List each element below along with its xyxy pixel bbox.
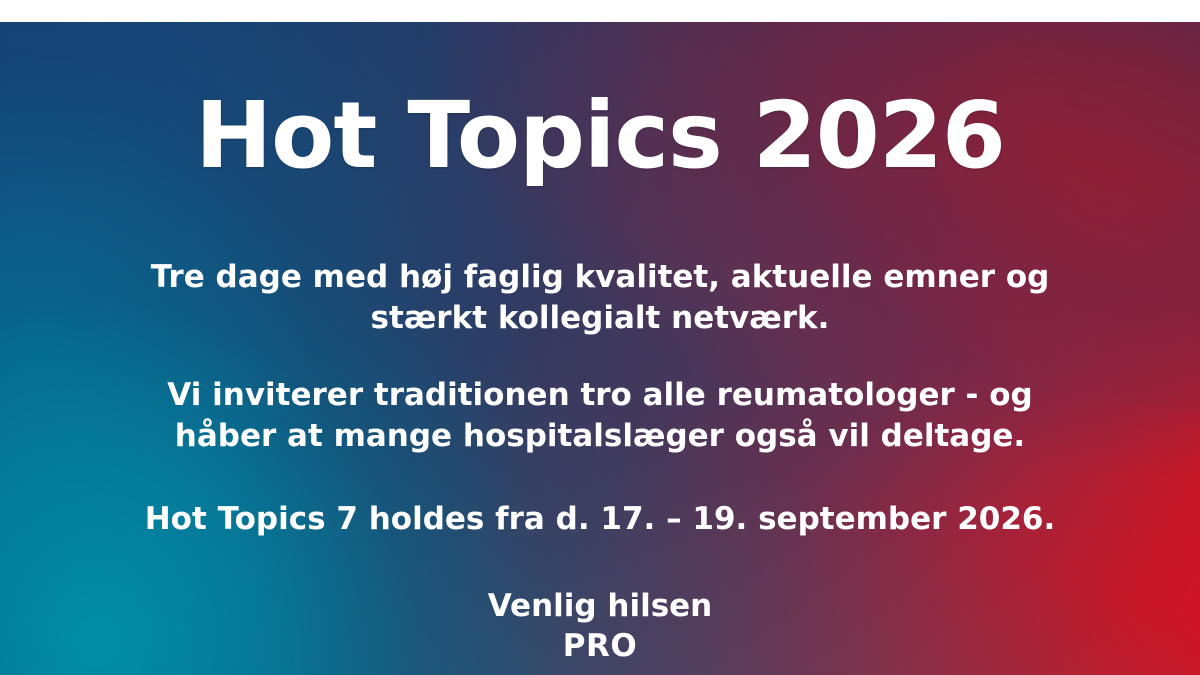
slide-content: Hot Topics 2026 Tre dage med høj faglig … — [0, 22, 1200, 675]
signoff-organization: PRO — [0, 627, 1200, 667]
slide: Hot Topics 2026 Tre dage med høj faglig … — [0, 0, 1200, 675]
date-paragraph: Hot Topics 7 holdes fra d. 17. – 19. sep… — [120, 499, 1080, 540]
gradient-banner: Hot Topics 2026 Tre dage med høj faglig … — [0, 22, 1200, 675]
invitation-paragraph: Vi inviterer traditionen tro alle reumat… — [120, 375, 1080, 457]
signoff: Venlig hilsen PRO — [0, 587, 1200, 666]
page-title: Hot Topics 2026 — [0, 88, 1200, 185]
intro-paragraph: Tre dage med høj faglig kvalitet, aktuel… — [120, 257, 1080, 339]
signoff-greeting: Venlig hilsen — [488, 588, 713, 624]
